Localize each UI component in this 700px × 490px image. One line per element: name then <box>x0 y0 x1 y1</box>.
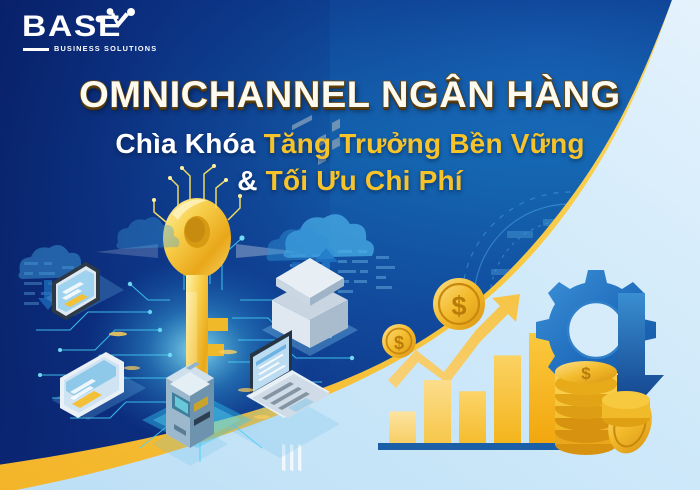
headline-block: OMNICHANNEL NGÂN HÀNG <box>0 76 700 115</box>
poster-canvas: $ $ <box>0 0 700 490</box>
subtitle-2-gold: Tối Ưu Chi Phí <box>266 165 463 196</box>
subtitle-2-white: & <box>237 165 257 196</box>
subtitle-1-gold: Tăng Trưởng Bền Vững <box>264 128 585 159</box>
subtitle-1-white: Chìa Khóa <box>115 128 255 159</box>
page-title: OMNICHANNEL NGÂN HÀNG <box>79 76 621 115</box>
tagline-rule <box>23 48 49 51</box>
brand-tagline: BUSINESS SOLUTIONS <box>54 46 157 53</box>
brand-tagline-row: BUSINESS SOLUTIONS <box>23 46 154 53</box>
brand-name: BASE <box>22 12 170 42</box>
subtitle-line-2: & Tối Ưu Chi Phí <box>0 163 700 200</box>
subtitle-line-1: Chìa Khóa Tăng Trưởng Bền Vững <box>0 126 700 163</box>
subtitle-block: Chìa Khóa Tăng Trưởng Bền Vững & Tối Ưu … <box>0 126 700 200</box>
brand-logo[interactable]: BASE BUSINESS SOLUTIONS <box>22 12 154 64</box>
